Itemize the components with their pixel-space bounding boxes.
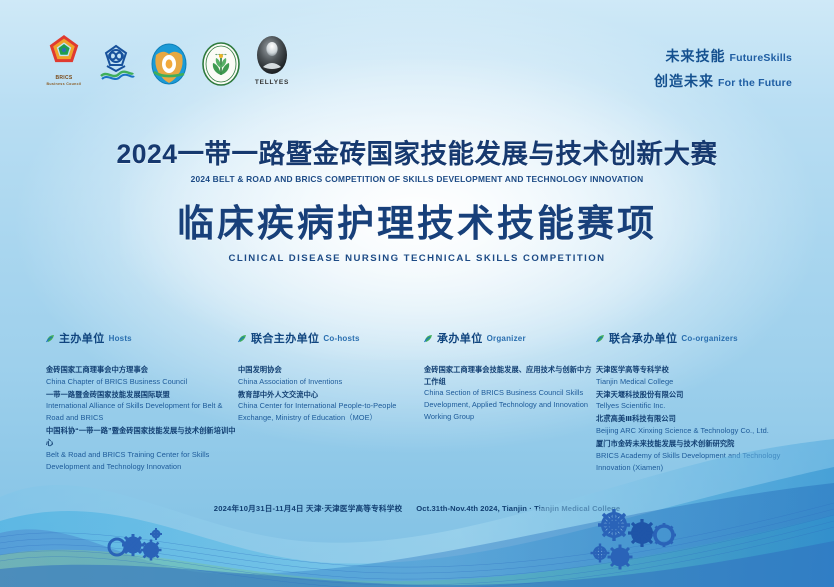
org-name-cn: 北京ື高美Ⅲ科技有限公司 [596,413,796,425]
title-block: 2024一带一路暨金砖国家技能发展与技术创新大赛 2024 BELT & ROA… [0,140,834,264]
org-name-en: International Alliance of Skills Develop… [46,400,238,424]
gear-icon [122,534,144,556]
org-name-cn: 金砖国家工商理事会中方理事会 [46,364,238,376]
leaf-bullet-icon [46,334,55,343]
brics-logo-caption: BRICS [45,75,83,81]
slogan-line-1-en: FutureSkills [730,52,793,64]
org-name-en: Tellyes Scientific Inc. [596,400,796,412]
gear-cluster-left [104,523,174,569]
slogan-line-1-cn: 未来技能 [666,48,726,64]
tellyes-logo-caption: TELLYES [253,79,291,86]
event-subtitle-en: CLINICAL DISEASE NURSING TECHNICAL SKILL… [0,253,834,264]
org-entry: 北京ື高美Ⅲ科技有限公司 Beijing ARC Xinxing Science… [596,413,796,437]
slogan-line-2-cn: 创造未来 [654,73,714,89]
column-hosts-heading: 主办单位 Hosts [46,330,238,346]
org-entry: 天津天堰科技股份有限公司 Tellyes Scientific Inc. [596,389,796,413]
tianjin-medical-college-seal-logo: ⌁⌁⌁⌁ [201,42,241,86]
competition-title-cn: 2024一带一路暨金砖国家技能发展与技术创新大赛 [0,140,834,169]
org-name-en: China Association of Inventions [238,376,424,388]
org-entry: 金砖国家工商理事会中方理事会 China Chapter of BRICS Bu… [46,364,238,388]
org-name-cn: 一带一路暨金砖国家技能发展国际联盟 [46,389,238,401]
column-organizer-heading-cn: 承办单位 [437,330,483,346]
gear-icon [598,509,630,541]
org-name-cn: 天津天堰科技股份有限公司 [596,389,796,401]
org-name-en: Tianjin Medical College [596,376,796,388]
gear-icon [109,539,125,555]
gear-icon [608,545,633,570]
slogan-line-2: 创造未来For the Future [654,71,792,91]
org-name-en: China Center for International People-to… [238,400,424,424]
column-organizer-heading: 承办单位 Organizer [424,330,596,346]
slogan-line-2-en: For the Future [718,77,792,89]
column-cohosts-heading-cn: 联合主办单位 [251,330,319,346]
sponsor-logo-row: BRICS Business Council [45,34,291,86]
org-name-cn: 中国发明协会 [238,364,424,376]
leaf-bullet-icon [424,334,433,343]
org-name-en: China Section of BRICS Business Council … [424,387,596,423]
org-entry: 中国发明协会 China Association of Inventions [238,364,424,388]
tellyes-logo: TELLYES [253,36,291,86]
event-subtitle-cn: 临床疾病护理技术技能赛项 [0,204,834,245]
org-name-cn: 教育部中外人文交流中心 [238,389,424,401]
org-name-en: Beijing ARC Xinxing Science & Technology… [596,425,796,437]
org-name-cn: 天津医学高等专科学校 [596,364,796,376]
invention-association-logo [149,42,189,86]
org-entry: 教育部中外人文交流中心 China Center for Internation… [238,389,424,425]
brics-logo-subcaption: Business Council [45,82,83,86]
slogan-block: 未来技能FutureSkills 创造未来For the Future [654,46,792,96]
slogan-line-1: 未来技能FutureSkills [654,46,792,66]
leaf-bullet-icon [596,334,605,343]
gear-icon [652,523,676,547]
skills-alliance-logo [95,40,137,86]
org-entry: 一带一路暨金砖国家技能发展国际联盟 International Alliance… [46,389,238,425]
org-name-cn: 金砖国家工商理事会技能发展、应用技术与创新中方工作组 [424,364,596,387]
column-cohosts-heading-en: Co-hosts [323,334,359,343]
event-poster: BRICS Business Council [0,0,834,587]
gear-icon [141,540,162,561]
column-hosts-heading-cn: 主办单位 [59,330,105,346]
gear-cluster-right [588,505,684,577]
gear-icon [150,528,162,540]
leaf-bullet-icon [238,334,247,343]
gear-icon [591,544,610,563]
competition-title-en: 2024 BELT & ROAD AND BRICS COMPETITION O… [0,174,834,184]
org-entry: 天津医学高等专科学校 Tianjin Medical College [596,364,796,388]
column-coorganizers-heading-en: Co-organizers [681,334,737,343]
column-coorganizers-heading-cn: 联合承办单位 [609,330,677,346]
gear-icon [628,519,656,547]
column-hosts-heading-en: Hosts [109,334,132,343]
column-cohosts-heading: 联合主办单位 Co-hosts [238,330,424,346]
column-organizer-heading-en: Organizer [487,334,526,343]
column-coorganizers-heading: 联合承办单位 Co-organizers [596,330,796,346]
brics-business-council-logo: BRICS Business Council [45,34,83,86]
org-name-en: China Chapter of BRICS Business Council [46,376,238,388]
org-entry: 金砖国家工商理事会技能发展、应用技术与创新中方工作组 China Section… [424,364,596,423]
